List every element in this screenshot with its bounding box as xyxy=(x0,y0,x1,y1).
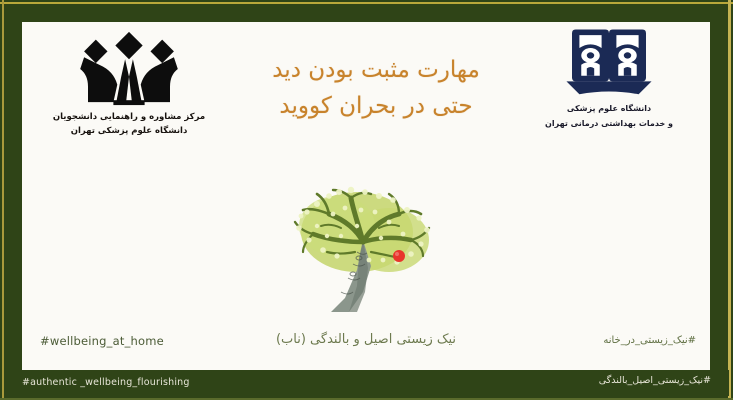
counseling-center-emblem-icon xyxy=(34,26,224,108)
logo-left-caption-line1: مرکز مشاوره و راهنمایی دانشجویان xyxy=(34,110,224,124)
slide-content-card: مرکز مشاوره و راهنمایی دانشجویان دانشگاه… xyxy=(22,22,710,370)
footer-left-hashtag: #authentic _wellbeing_flourishing xyxy=(22,377,190,388)
logo-right-caption: دانشگاه علوم پزشکی و خدمات بهداشتی درمان… xyxy=(524,101,694,131)
frame-hairline-left xyxy=(2,0,4,400)
caption-row: #wellbeing_at_home نیک زیستی اصیل و بالن… xyxy=(22,332,710,360)
illustration-area xyxy=(22,174,710,314)
logo-right-caption-line2: و خدمات بهداشتی درمانی تهران xyxy=(524,116,694,131)
logo-right-block: دانشگاه علوم پزشکی و خدمات بهداشتی درمان… xyxy=(524,24,694,131)
caption-right-hashtag: #نیک_زیستی_در_خانه xyxy=(603,335,696,346)
footer-right-hashtag: #نیک_زیستی_اصیل_بالندگی xyxy=(599,375,711,386)
frame-hairline-right xyxy=(728,0,731,400)
slide-title: مهارت مثبت بودن دید حتی در بحران کووید xyxy=(218,52,534,124)
tums-open-book-emblem-icon xyxy=(524,24,694,98)
logo-left-block: مرکز مشاوره و راهنمایی دانشجویان دانشگاه… xyxy=(34,26,224,138)
logo-left-caption-line2: دانشگاه علوم پزشکی تهران xyxy=(34,124,224,138)
footer-strip: #authentic _wellbeing_flourishing #نیک_ز… xyxy=(4,370,729,396)
slide-root: مرکز مشاوره و راهنمایی دانشجویان دانشگاه… xyxy=(0,0,733,400)
slide-title-line2: حتی در بحران کووید xyxy=(218,88,534,124)
tree-illustration-icon xyxy=(271,174,461,314)
slide-title-line1: مهارت مثبت بودن دید xyxy=(272,57,480,83)
frame-hairline-top xyxy=(0,2,733,4)
logo-right-caption-line1: دانشگاه علوم پزشکی xyxy=(524,101,694,116)
logo-left-caption: مرکز مشاوره و راهنمایی دانشجویان دانشگاه… xyxy=(34,110,224,138)
slide-header: مرکز مشاوره و راهنمایی دانشجویان دانشگاه… xyxy=(22,22,710,172)
